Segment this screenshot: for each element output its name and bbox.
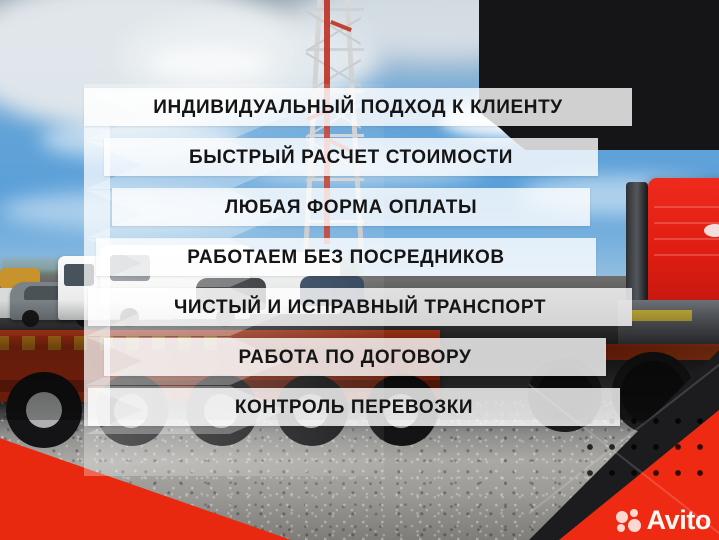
feature-band: КОНТРОЛЬ ПЕРЕВОЗКИ — [88, 388, 620, 426]
avito-mark-icon — [616, 509, 642, 533]
feature-band: РАБОТА ПО ДОГОВОРУ — [104, 338, 606, 376]
feature-band-label: ЛЮБАЯ ФОРМА ОПЛАТЫ — [225, 198, 477, 217]
feature-band: ИНДИВИДУАЛЬНЫЙ ПОДХОД К КЛИЕНТУ — [84, 88, 632, 126]
banner-canvas: ИНДИВИДУАЛЬНЫЙ ПОДХОД К КЛИЕНТУ БЫСТРЫЙ … — [0, 0, 719, 540]
feature-band: РАБОТАЕМ БЕЗ ПОСРЕДНИКОВ — [96, 238, 596, 276]
feature-band-list: ИНДИВИДУАЛЬНЫЙ ПОДХОД К КЛИЕНТУ БЫСТРЫЙ … — [0, 0, 719, 540]
avito-wordmark: Avito — [647, 507, 712, 534]
feature-band: ЛЮБАЯ ФОРМА ОПЛАТЫ — [112, 188, 590, 226]
feature-band-label: КОНТРОЛЬ ПЕРЕВОЗКИ — [235, 398, 473, 417]
feature-band: БЫСТРЫЙ РАСЧЕТ СТОИМОСТИ — [104, 138, 598, 176]
avito-logo: Avito — [616, 507, 712, 534]
feature-band-label: ИНДИВИДУАЛЬНЫЙ ПОДХОД К КЛИЕНТУ — [153, 98, 562, 117]
feature-band-label: РАБОТАЕМ БЕЗ ПОСРЕДНИКОВ — [187, 248, 505, 267]
band-notch — [84, 176, 110, 226]
feature-band: ЧИСТЫЙ И ИСПРАВНЫЙ ТРАНСПОРТ — [88, 288, 632, 326]
feature-band-label: РАБОТА ПО ДОГОВОРУ — [239, 348, 472, 367]
feature-band-label: БЫСТРЫЙ РАСЧЕТ СТОИМОСТИ — [189, 148, 513, 167]
feature-band-label: ЧИСТЫЙ И ИСПРАВНЫЙ ТРАНСПОРТ — [174, 298, 546, 317]
